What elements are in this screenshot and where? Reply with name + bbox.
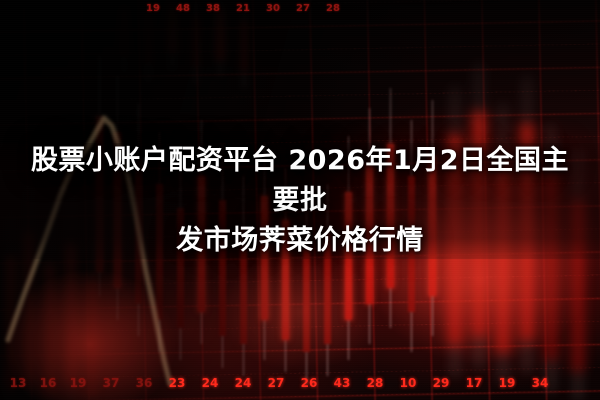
screenshot-canvas: 19483821302728 1316193736232424272643281… — [0, 0, 600, 400]
axis-tick-label: 26 — [301, 376, 318, 390]
chart-axis-top: 19483821302728 — [0, 2, 600, 22]
axis-tick-label: 19 — [70, 376, 87, 390]
axis-tick-label: 16 — [40, 376, 57, 390]
candlestick-body — [66, 244, 75, 384]
candlestick-body — [303, 248, 310, 352]
axis-tick-label: 28 — [326, 2, 340, 16]
candlestick-body — [120, 8, 128, 56]
axis-tick-label: 10 — [400, 376, 417, 390]
candlestick-wick — [243, 0, 244, 88]
candlestick-body — [192, 16, 200, 68]
title-overlay-band: 股票小账户配资平台 2026年1月2日全国主要批 发市场荠菜价格行情 — [0, 143, 600, 259]
axis-tick-label: 23 — [169, 376, 186, 390]
candlestick-wick — [171, 0, 172, 68]
axis-tick-label: 19 — [146, 2, 160, 16]
axis-tick-label: 17 — [466, 376, 483, 390]
candlestick-body — [216, 8, 224, 60]
axis-tick-label: 21 — [236, 2, 250, 16]
axis-tick-label: 28 — [367, 376, 384, 390]
page-title-line-2: 发市场荠菜价格行情 — [176, 225, 424, 256]
axis-tick-label: 30 — [266, 2, 280, 16]
axis-tick-label: 48 — [176, 2, 190, 16]
candlestick-body — [168, 4, 176, 52]
axis-tick-label: 37 — [103, 376, 120, 390]
axis-tick-label: 19 — [499, 376, 516, 390]
axis-tick-label: 36 — [136, 376, 153, 390]
axis-tick-label: 24 — [202, 376, 219, 390]
candlestick-body — [87, 280, 96, 396]
axis-tick-label: 27 — [296, 2, 310, 16]
candlestick-body — [6, 256, 15, 388]
axis-tick-label: 43 — [334, 376, 351, 390]
candlestick-wick — [91, 240, 92, 400]
candlestick-body — [45, 264, 54, 392]
axis-tick-label: 34 — [532, 376, 549, 390]
candlestick-body — [144, 12, 152, 64]
candlestick-wick — [147, 0, 148, 80]
axis-tick-label: 24 — [235, 376, 252, 390]
page-title-line-1: 股票小账户配资平台 2026年1月2日全国主要批 — [31, 145, 569, 216]
axis-tick-label: 13 — [10, 376, 27, 390]
axis-tick-label: 38 — [206, 2, 220, 16]
candlestick-wick — [219, 0, 220, 76]
candlestick-body — [240, 20, 248, 72]
page-title: 股票小账户配资平台 2026年1月2日全国主要批 发市场荠菜价格行情 — [20, 141, 580, 261]
axis-tick-label: 29 — [433, 376, 450, 390]
candlestick-wick — [123, 0, 124, 72]
axis-tick-label: 27 — [268, 376, 285, 390]
candlestick-wick — [195, 0, 196, 84]
chart-axis-bottom: 1316193736232424272643281029171934 — [0, 376, 600, 396]
